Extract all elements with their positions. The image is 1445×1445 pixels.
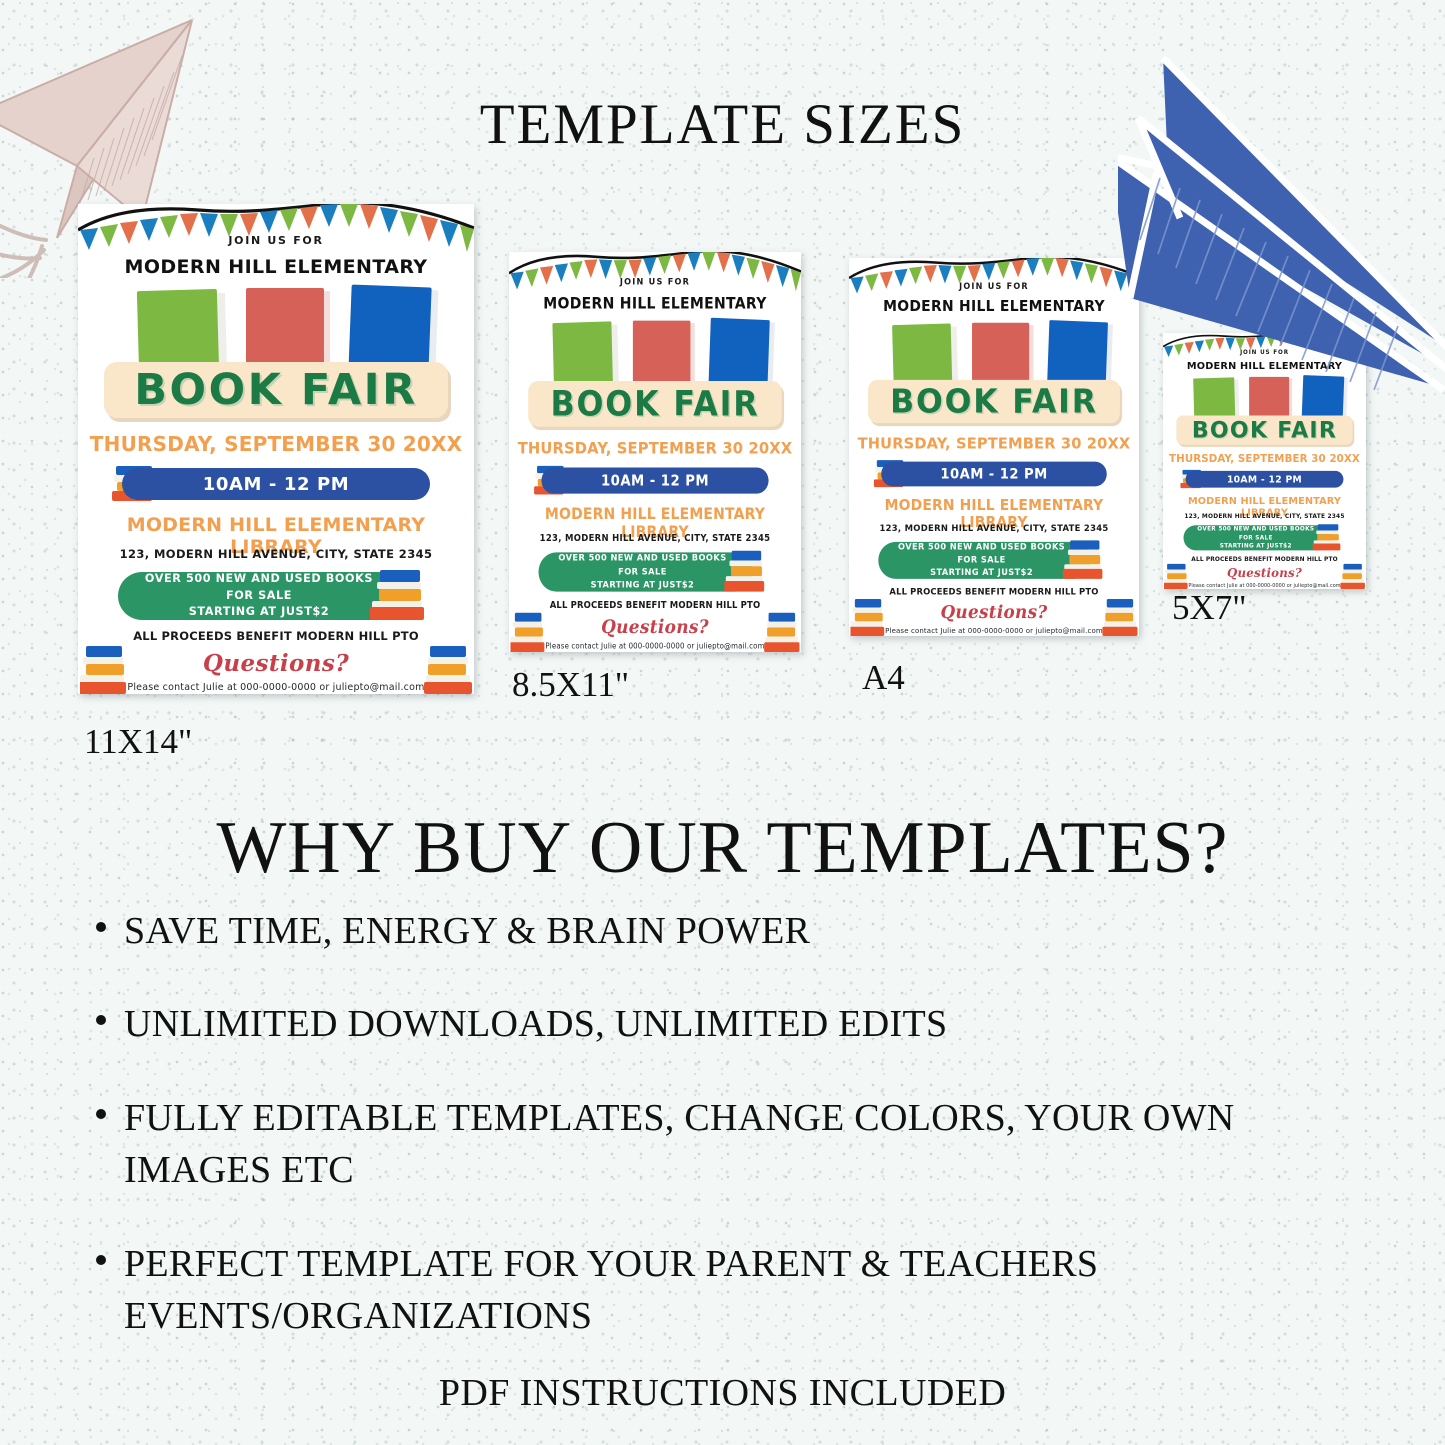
book-stack-icon [1060, 536, 1107, 582]
section-title-why-buy: WHY BUY OUR TEMPLATES? [0, 806, 1445, 891]
flyer-preview-5x7[interactable]: JOIN US FOR MODERN HILL ELEMENTARY BOOK … [1163, 333, 1366, 589]
flyer-join-us-text: JOIN US FOR [849, 281, 1139, 291]
list-item: PERFECT TEMPLATE FOR YOUR PARENT & TEACH… [96, 1238, 1386, 1343]
flyer-sale-banner: OVER 500 NEW AND USED BOOKS FOR SALE STA… [878, 542, 1090, 579]
size-label-8-5x11: 8.5X11" [512, 665, 629, 705]
list-item-label: UNLIMITED DOWNLOADS, UNLIMITED EDITS [124, 998, 947, 1050]
flyer-main-title: BOOK FAIR [1176, 416, 1352, 445]
bullet-dot-icon [96, 1015, 106, 1025]
sale-line-1: OVER 500 NEW AND USED BOOKS FOR SALE [132, 571, 386, 605]
flyer-time: 10AM - 12 PM [122, 468, 430, 500]
benefits-list: SAVE TIME, ENERGY & BRAIN POWER UNLIMITE… [96, 905, 1386, 1384]
book-stack-icon [850, 597, 891, 636]
flyer-date: THURSDAY, SEPTEMBER 30 20XX [849, 434, 1139, 453]
flyer-address: 123, MODERN HILL AVENUE, CITY, STATE 234… [1163, 512, 1366, 519]
flyer-content: JOIN US FOR MODERN HILL ELEMENTARY BOOK … [849, 258, 1139, 636]
flyer-time: 10AM - 12 PM [1186, 471, 1344, 488]
flyer-proceeds-note: ALL PROCEEDS BENEFIT MODERN HILL PTO [509, 599, 801, 610]
list-item: FULLY EDITABLE TEMPLATES, CHANGE COLORS,… [96, 1092, 1386, 1197]
flyer-contact-info: Please contact Julie at 000-0000-0000 or… [509, 642, 801, 651]
bullet-dot-icon [96, 1109, 106, 1119]
flyer-join-us-text: JOIN US FOR [509, 276, 801, 287]
flyer-school-name: MODERN HILL ELEMENTARY [78, 256, 474, 278]
book-stack-icon [80, 644, 136, 694]
bunting-flags-icon [849, 258, 1139, 301]
sale-line-1: OVER 500 NEW AND USED BOOKS FOR SALE [1191, 525, 1321, 543]
flyer-proceeds-note: ALL PROCEEDS BENEFIT MODERN HILL PTO [849, 586, 1139, 597]
book-stack-icon [1164, 563, 1193, 589]
flyer-time: 10AM - 12 PM [541, 468, 768, 494]
flyer-questions-heading: Questions? [78, 650, 474, 677]
flyer-questions-heading: Questions? [509, 616, 801, 638]
bunting-flags-icon [509, 252, 801, 298]
list-item-label: SAVE TIME, ENERGY & BRAIN POWER [124, 905, 810, 957]
flyer-main-title: BOOK FAIR [868, 380, 1120, 423]
flyer-main-title: BOOK FAIR [528, 381, 782, 427]
bullet-dot-icon [96, 1255, 106, 1265]
flyer-date: THURSDAY, SEPTEMBER 30 20XX [1163, 452, 1366, 465]
sale-line-2: STARTING AT JUST$2 [591, 579, 695, 593]
book-stack-icon [1311, 521, 1344, 552]
book-stack-icon [758, 611, 799, 652]
book-stack-icon [1336, 563, 1365, 589]
book-stack-icon [1097, 597, 1138, 636]
book-stack-icon [510, 611, 551, 652]
list-item: SAVE TIME, ENERGY & BRAIN POWER [96, 905, 1386, 957]
flyer-address: 123, MODERN HILL AVENUE, CITY, STATE 234… [509, 532, 801, 543]
sale-line-2: STARTING AT JUST$2 [1220, 542, 1292, 551]
flyer-preview-8-5x11[interactable]: JOIN US FOR MODERN HILL ELEMENTARY BOOK … [509, 252, 801, 652]
bullet-dot-icon [96, 922, 106, 932]
flyer-join-us-text: JOIN US FOR [78, 234, 474, 247]
flyer-contact-info: Please contact Julie at 000-0000-0000 or… [849, 627, 1139, 635]
flyer-date: THURSDAY, SEPTEMBER 30 20XX [78, 432, 474, 456]
flyer-content: JOIN US FOR MODERN HILL ELEMENTARY BOOK … [1163, 333, 1366, 589]
flyer-date: THURSDAY, SEPTEMBER 30 20XX [509, 438, 801, 458]
list-item: UNLIMITED DOWNLOADS, UNLIMITED EDITS [96, 998, 1386, 1050]
sale-line-2: STARTING AT JUST$2 [189, 604, 329, 621]
book-stack-icon [721, 546, 768, 595]
page-title-template-sizes: TEMPLATE SIZES [0, 92, 1445, 157]
sale-line-1: OVER 500 NEW AND USED BOOKS FOR SALE [549, 551, 736, 578]
size-label-11x14: 11X14" [84, 722, 192, 762]
book-stack-icon [366, 564, 430, 624]
flyer-join-us-text: JOIN US FOR [1163, 349, 1366, 356]
flyer-preview-a4[interactable]: JOIN US FOR MODERN HILL ELEMENTARY BOOK … [849, 258, 1139, 636]
flyer-questions-heading: Questions? [849, 602, 1139, 623]
bunting-flags-icon [78, 204, 474, 260]
flyer-preview-11x14[interactable]: JOIN US FOR MODERN HILL ELEMENTARY BOOK … [78, 204, 474, 694]
flyer-proceeds-note: ALL PROCEEDS BENEFIT MODERN HILL PTO [78, 629, 474, 643]
three-books-illustration [78, 286, 474, 374]
flyer-school-name: MODERN HILL ELEMENTARY [1163, 360, 1366, 371]
list-item-label: FULLY EDITABLE TEMPLATES, CHANGE COLORS,… [124, 1092, 1386, 1197]
bunting-flags-icon [1163, 333, 1366, 362]
flyer-school-name: MODERN HILL ELEMENTARY [509, 294, 801, 312]
list-item-label: PERFECT TEMPLATE FOR YOUR PARENT & TEACH… [124, 1238, 1386, 1343]
flyer-main-title: BOOK FAIR [104, 362, 448, 418]
flyer-contact-info: Please contact Julie at 000-0000-0000 or… [78, 682, 474, 693]
flyer-proceeds-note: ALL PROCEEDS BENEFIT MODERN HILL PTO [1163, 555, 1366, 562]
product-listing-page: TEMPLATE SIZES [0, 0, 1445, 1445]
sale-line-2: STARTING AT JUST$2 [930, 567, 1033, 580]
flyer-school-name: MODERN HILL ELEMENTARY [849, 298, 1139, 315]
book-stack-icon [416, 644, 472, 694]
flyer-sale-banner: OVER 500 NEW AND USED BOOKS FOR SALE STA… [118, 572, 408, 620]
flyer-address: 123, MODERN HILL AVENUE, CITY, STATE 234… [78, 547, 474, 561]
size-label-5x7: 5X7" [1172, 588, 1247, 628]
flyer-time: 10AM - 12 PM [881, 462, 1107, 487]
flyer-content: JOIN US FOR MODERN HILL ELEMENTARY BOOK … [78, 204, 474, 694]
size-label-a4: A4 [862, 658, 905, 698]
sale-line-1: OVER 500 NEW AND USED BOOKS FOR SALE [889, 541, 1075, 567]
flyer-address: 123, MODERN HILL AVENUE, CITY, STATE 234… [849, 523, 1139, 534]
pdf-instructions-note: PDF INSTRUCTIONS INCLUDED [0, 1371, 1445, 1415]
flyer-sale-banner: OVER 500 NEW AND USED BOOKS FOR SALE STA… [538, 552, 752, 591]
flyer-content: JOIN US FOR MODERN HILL ELEMENTARY BOOK … [509, 252, 801, 652]
